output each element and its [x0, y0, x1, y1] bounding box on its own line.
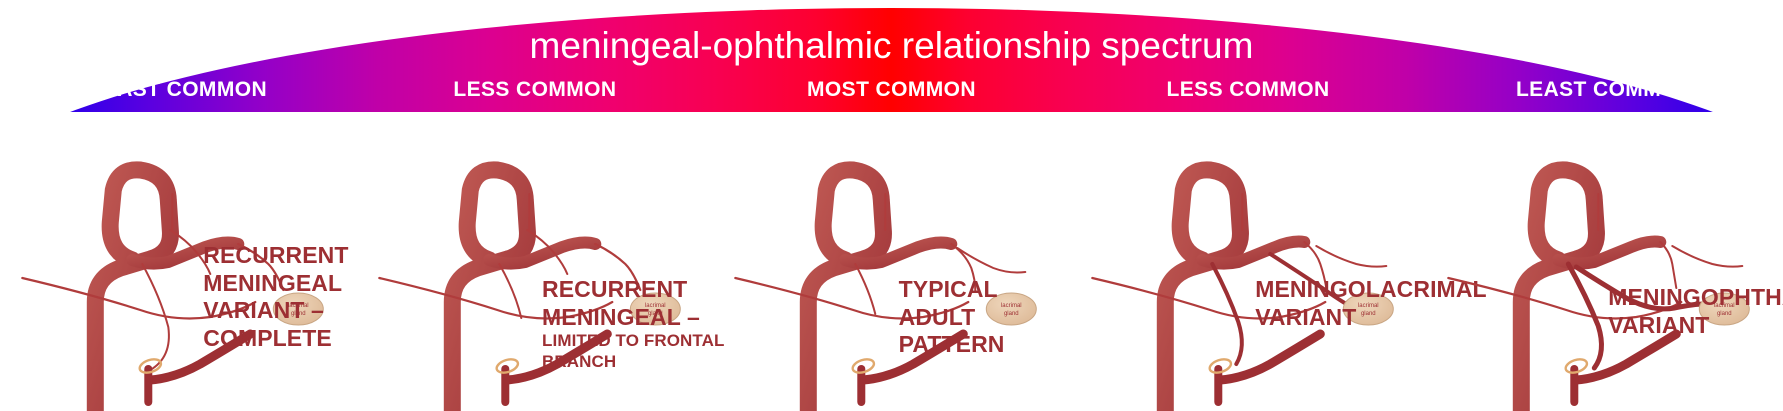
- tier-label-row: LEAST COMMON LESS COMMON MOST COMMON LES…: [0, 78, 1783, 106]
- variant-panel-3: lacrimal gland TYPICAL ADULT PATTERN: [713, 112, 1070, 411]
- tier-label-2: LESS COMMON: [357, 78, 714, 106]
- tier-label-1: LEAST COMMON: [0, 78, 357, 106]
- panel-caption-4: MENINGOLACRIMAL VARIANT: [1255, 276, 1440, 331]
- vessel-diagram-3: lacrimal gland: [713, 112, 1070, 411]
- panel-caption-2: RECURRENT MENINGEAL – LIMITED TO FRONTAL…: [542, 276, 727, 372]
- tier-label-3: MOST COMMON: [713, 78, 1070, 106]
- panel-caption-main-1: RECURRENT MENINGEAL VARIANT – COMPLETE: [203, 242, 348, 351]
- variant-panel-1: lacrimal gland RECURRENT MENINGEAL VARIA…: [0, 112, 357, 411]
- panel-caption-main-5: MENINGOPHTHALMIC VARIANT: [1608, 284, 1783, 338]
- panel-caption-3: TYPICAL ADULT PATTERN: [899, 276, 1077, 359]
- spectrum-banner: meningeal-ophthalmic relationship spectr…: [0, 0, 1783, 112]
- tier-label-5: LEAST COMMON: [1426, 78, 1783, 106]
- variant-panel-5: lacrimal gland MENINGOPHTHALMIC VARIANT: [1426, 112, 1783, 411]
- panel-caption-main-3: TYPICAL ADULT PATTERN: [899, 276, 1005, 357]
- variant-panel-2: lacrimal gland RECURRENT MENINGEAL – LIM…: [357, 112, 714, 411]
- panel-caption-main-2: RECURRENT MENINGEAL –: [542, 276, 700, 330]
- panel-caption-small-2: LIMITED TO FRONTAL BRANCH: [542, 331, 724, 370]
- page-title: meningeal-ophthalmic relationship spectr…: [0, 24, 1783, 68]
- vessel-diagram-4: lacrimal gland: [1070, 112, 1427, 411]
- variant-panel-row: lacrimal gland RECURRENT MENINGEAL VARIA…: [0, 112, 1783, 411]
- vessel-diagram-5: lacrimal gland: [1426, 112, 1783, 411]
- panel-caption-1: RECURRENT MENINGEAL VARIANT – COMPLETE: [203, 242, 367, 352]
- tier-label-4: LESS COMMON: [1070, 78, 1427, 106]
- variant-panel-4: lacrimal gland MENINGOLACRIMAL VARIANT: [1070, 112, 1427, 411]
- panel-caption-5: MENINGOPHTHALMIC VARIANT: [1608, 284, 1783, 339]
